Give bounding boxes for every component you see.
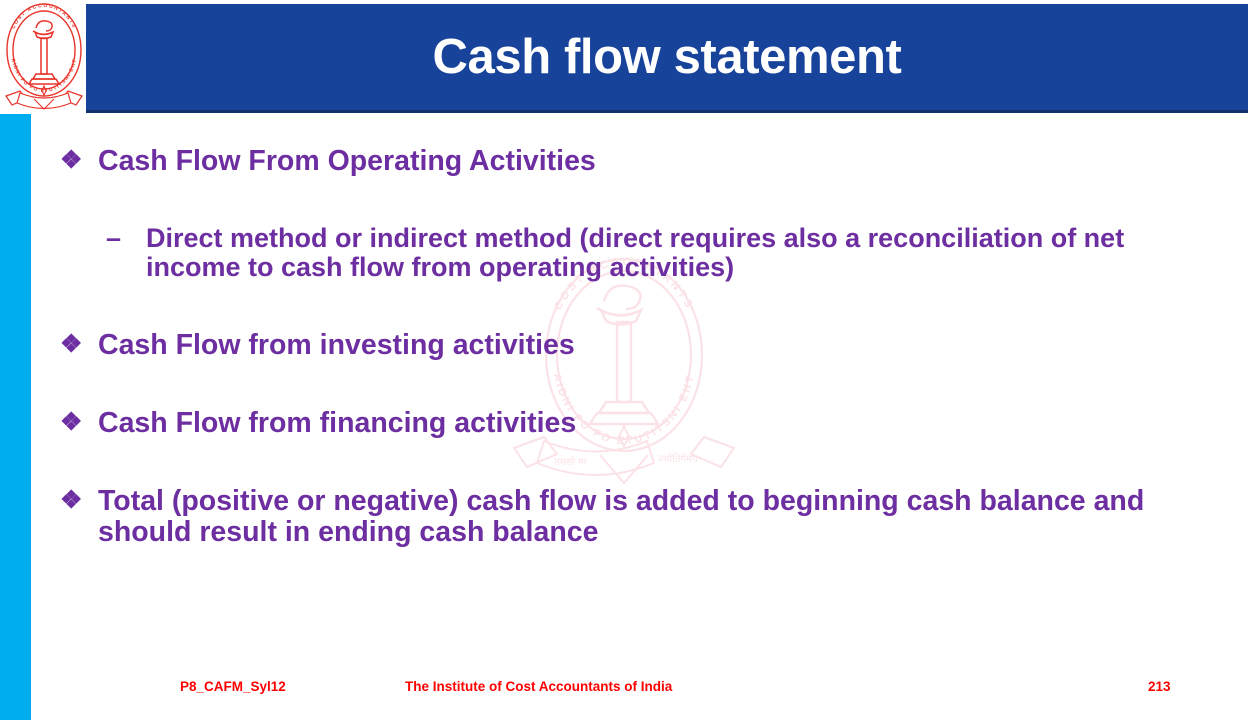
bullet-item-3-text: Cash Flow from investing activities [98,330,575,361]
bullet-item-2-text: Direct method or indirect method (direct… [146,224,1211,282]
footer-subject-code: P8_CAFM_Syl12 [180,679,286,694]
footer-organization: The Institute of Cost Accountants of Ind… [405,679,672,694]
diamond-bullet-icon: ❖ [60,146,98,174]
institute-logo: COST ACCOUNTANTS AIDNI FO FO ETUTITSNI E… [2,0,86,112]
page-title: Cash flow statement [86,4,1248,110]
left-accent-rail [0,114,31,720]
bullet-item-2: – Direct method or indirect method (dire… [106,224,1211,282]
bullet-item-5-text: Total (positive or negative) cash flow i… [98,486,1150,548]
footer-page-number: 213 [1148,679,1171,694]
diamond-bullet-icon: ❖ [60,408,98,436]
slide-body: ❖ Cash Flow From Operating Activities – … [60,134,1210,654]
dash-bullet-icon: – [106,224,146,253]
diamond-bullet-icon: ❖ [60,330,98,358]
bullet-item-4-text: Cash Flow from financing activities [98,408,576,439]
svg-text:COST ACCOUNTANTS: COST ACCOUNTANTS [11,3,78,30]
bullet-item-1-text: Cash Flow From Operating Activities [98,146,596,177]
bullet-item-4: ❖ Cash Flow from financing activities [60,408,1140,439]
svg-text:AIDNI FO FO ETUTITSNI EHT: AIDNI FO FO ETUTITSNI EHT [10,58,79,94]
bullet-item-3: ❖ Cash Flow from investing activities [60,330,1140,361]
bullet-item-1: ❖ Cash Flow From Operating Activities [60,146,1140,177]
diamond-bullet-icon: ❖ [60,486,98,514]
bullet-item-5: ❖ Total (positive or negative) cash flow… [60,486,1150,548]
title-band-underline [86,110,1248,113]
slide-root: Cash flow statement [0,0,1248,720]
